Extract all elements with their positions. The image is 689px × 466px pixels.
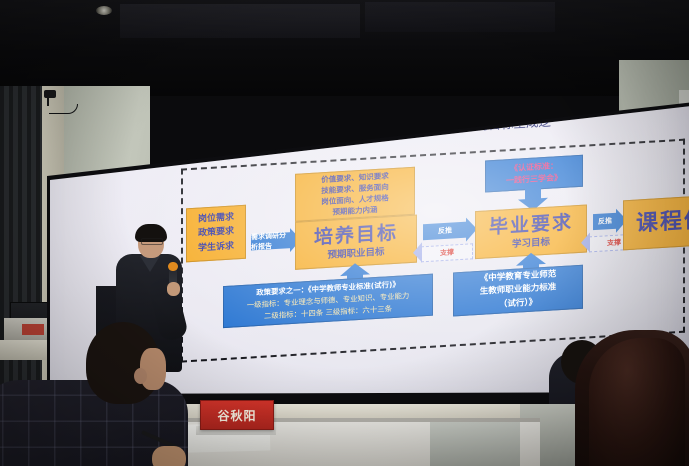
arrow-label-fantui-1: 反推 bbox=[438, 226, 452, 237]
security-camera-icon bbox=[44, 90, 56, 98]
attendee-ear bbox=[134, 368, 147, 384]
input-item-policy-requirement: 政策要求 bbox=[198, 227, 234, 240]
input-item-job-demand: 岗位需求 bbox=[198, 213, 234, 226]
ceiling-tile bbox=[120, 4, 360, 38]
ceiling-downlight bbox=[96, 6, 112, 15]
attendee-hand bbox=[152, 446, 186, 466]
diagram-block-graduation-requirement: 毕业要求 学习目标 bbox=[475, 204, 587, 259]
arrow-label-zhicheng-1: 支撑 bbox=[440, 247, 454, 258]
slide-subtitle: （二）面向岗位需求（能力导向）的“反向设计”的目标生成逻 bbox=[213, 111, 551, 150]
arrow-label-fantui-2: 反推 bbox=[598, 216, 612, 227]
diagram-block-teacher-ability-standard: 《中学教育专业师范 生教师职业能力标准 （试行）》 bbox=[453, 265, 583, 317]
graduation-title: 毕业要求 bbox=[489, 211, 573, 240]
diagram-block-inputs: 岗位需求 政策要求 学生诉求 bbox=[186, 205, 246, 263]
subtitle-part-1: （二）面向岗位需求（能力导向）的 bbox=[213, 122, 413, 149]
graduation-subtitle: 学习目标 bbox=[512, 237, 550, 251]
nameplate: 谷秋阳 bbox=[200, 400, 274, 430]
microphone-head-icon bbox=[168, 262, 178, 271]
ceiling bbox=[0, 0, 689, 96]
arrow-zhicheng-1: 支撑 bbox=[421, 243, 473, 262]
foreground-attendee-left bbox=[0, 318, 200, 466]
arrow-down-standard bbox=[525, 187, 541, 200]
presenter-hand bbox=[167, 282, 180, 296]
arrow-label-zhicheng-2: 支撑 bbox=[607, 237, 621, 248]
attendee-curly-hair bbox=[589, 338, 685, 466]
arrow-fantui-2: 反推 bbox=[593, 213, 617, 230]
arrow-label-report: 需求调研分析报告 bbox=[251, 230, 291, 252]
ceiling-tile bbox=[365, 2, 555, 32]
lecture-room-scene: 一、明白什么？ （二）面向岗位需求（能力导向）的“反向设计”的目标生成逻 岗位需… bbox=[0, 0, 689, 466]
diagram-block-curriculum-system: 课程体系 bbox=[623, 193, 689, 250]
training-goal-title: 培养目标 bbox=[314, 221, 398, 250]
glasses-icon bbox=[141, 238, 163, 245]
training-goal-subtitle: 预期职业目标 bbox=[327, 247, 384, 262]
diagram-block-training-goal: 培养目标 预期职业目标 bbox=[295, 215, 417, 270]
input-item-student-appeal: 学生诉求 bbox=[198, 241, 234, 254]
desk-side-panel bbox=[430, 422, 520, 466]
arrow-research-report: 需求调研分析报告 bbox=[251, 232, 291, 250]
arrow-fantui-1: 反推 bbox=[423, 222, 467, 241]
diagram-block-detail: 价值要求、知识要求 技能要求、服务面向 岗位面向、人才规格 预期能力内涵 bbox=[295, 167, 415, 222]
